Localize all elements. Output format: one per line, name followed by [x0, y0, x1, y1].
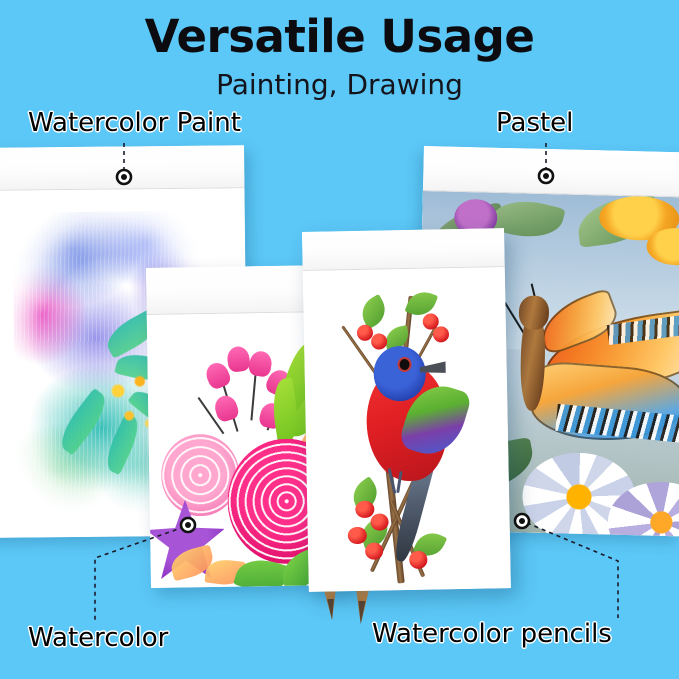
leader-line-watercolor-pencils — [527, 523, 618, 618]
sketch-pad-watercolor-pencils — [302, 228, 511, 592]
callout-label-watercolor: Watercolor — [28, 625, 168, 651]
pad-sheet — [303, 267, 511, 592]
callout-label-watercolor-paint: Watercolor Paint — [28, 110, 241, 136]
artwork-bird-on-branch — [303, 267, 511, 592]
page-title: Versatile Usage — [0, 14, 679, 59]
pad-binding-strip — [302, 228, 505, 270]
callout-label-pastel: Pastel — [496, 110, 573, 136]
page-subtitle: Painting, Drawing — [0, 68, 679, 102]
pad-binding-strip — [0, 145, 244, 190]
callout-label-watercolor-pencils: Watercolor pencils — [372, 621, 612, 647]
pad-binding-strip — [423, 146, 679, 197]
product-marketing-image: Versatile Usage Painting, Drawing Waterc… — [0, 0, 679, 679]
